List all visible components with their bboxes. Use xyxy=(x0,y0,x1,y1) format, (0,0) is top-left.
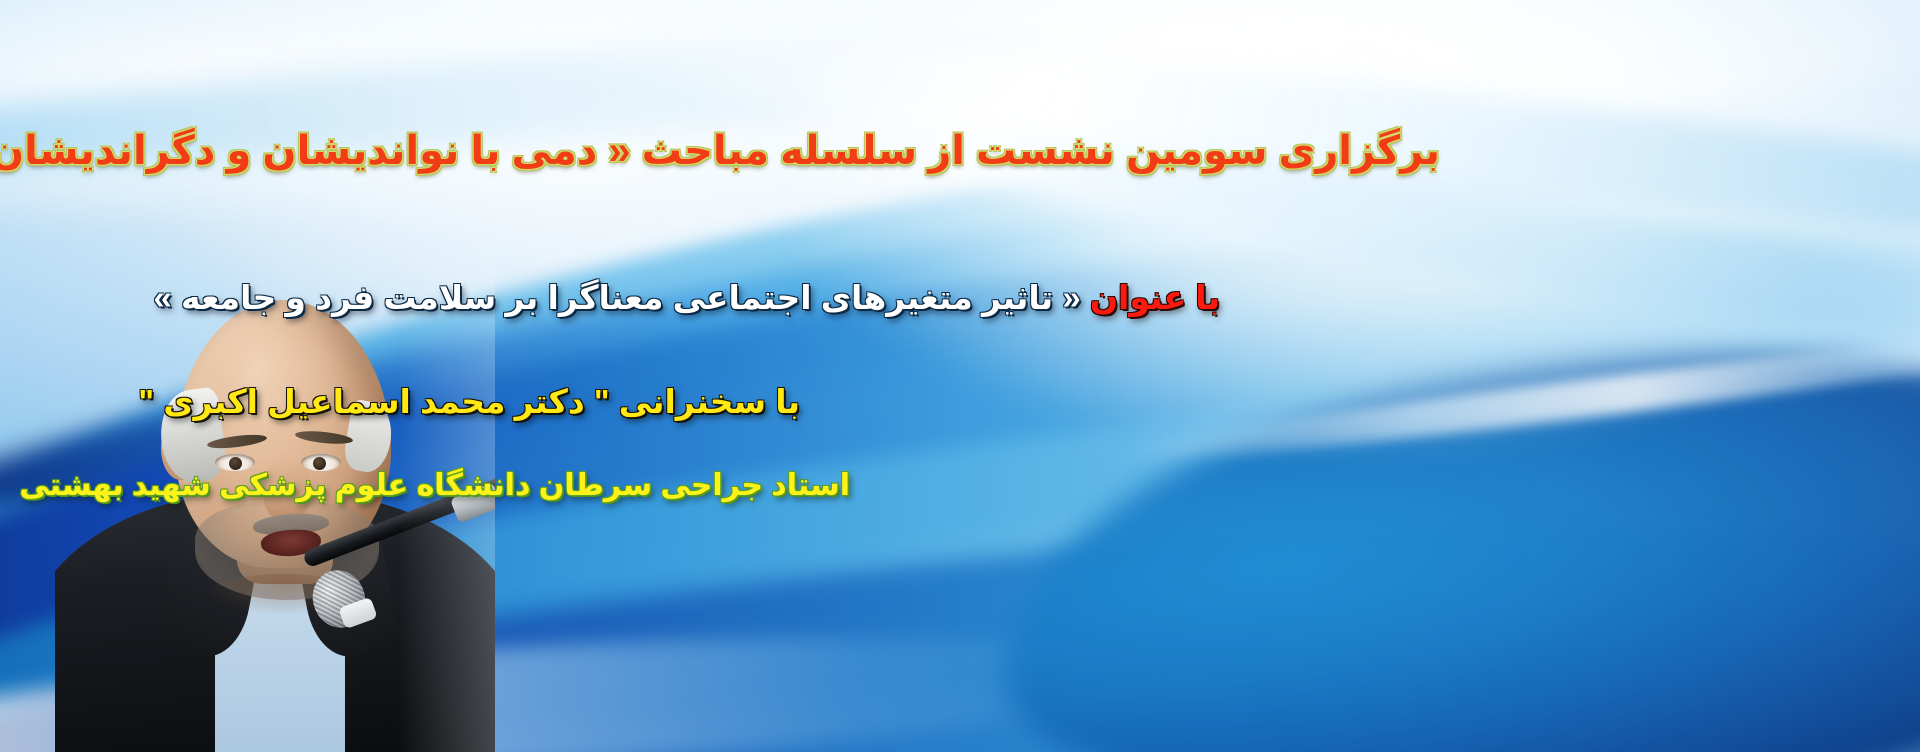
banner-subject-prefix: با عنوان xyxy=(1090,279,1220,316)
banner-subject-body: « تاثیر متغیرهای اجتماعی معناگرا بر سلام… xyxy=(154,279,1090,316)
banner-subject: با عنوان « تاثیر متغیرهای اجتماعی معناگر… xyxy=(154,278,1221,317)
banner-title: برگزاری سومین نشست از سلسله مباحث « دمی … xyxy=(0,128,1440,174)
banner-speaker: با سخنرانی " دکتر محمد اسماعیل اکبری " xyxy=(138,382,800,421)
event-banner: برگزاری سومین نشست از سلسله مباحث « دمی … xyxy=(0,0,1920,752)
banner-affiliation: استاد جراحی سرطان دانشگاه علوم پزشکی شهی… xyxy=(19,468,850,503)
